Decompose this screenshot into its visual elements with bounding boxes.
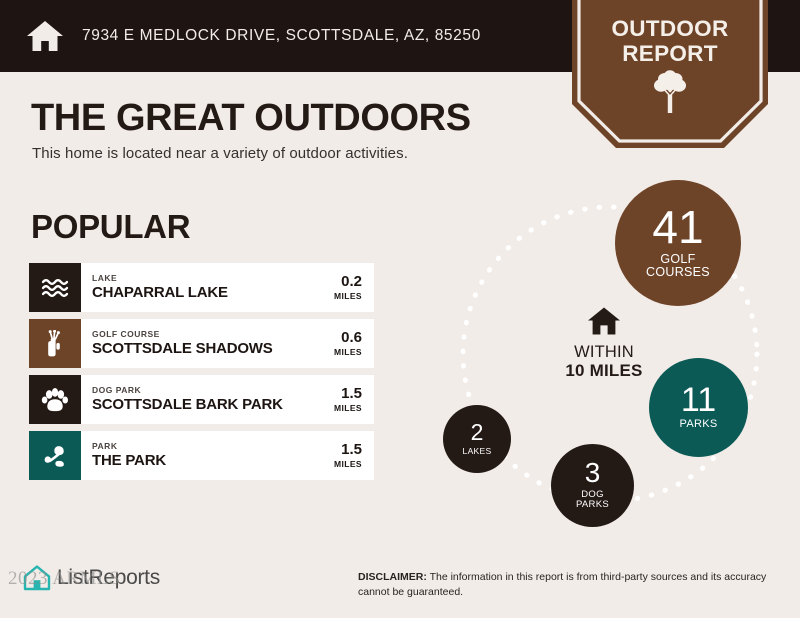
mls-watermark: 2023 ARMLS <box>8 568 120 590</box>
distance-value: 1.5 <box>341 442 362 458</box>
distance-unit: MILES <box>334 403 362 413</box>
park-tree-icon <box>41 442 69 470</box>
stat-label-line-1: GOLF <box>660 252 695 266</box>
distance-unit: MILES <box>334 459 362 469</box>
stat-value: 3 <box>585 460 601 487</box>
paw-print-icon <box>41 386 69 414</box>
list-item[interactable]: PARK THE PARK 1.5 MILES <box>29 431 374 480</box>
property-address: 7934 E MEDLOCK DRIVE, SCOTTSDALE, AZ, 85… <box>82 27 481 45</box>
page-title: THE GREAT OUTDOORS <box>31 97 471 140</box>
stat-label: PARKS <box>680 419 718 431</box>
stat-label-line-2: PARKS <box>576 499 609 510</box>
item-icon-tile <box>29 431 81 480</box>
item-icon-tile <box>29 375 81 424</box>
item-name: SCOTTSDALE BARK PARK <box>92 396 312 413</box>
item-text: PARK THE PARK <box>81 431 312 480</box>
badge-shield-shape <box>572 0 768 148</box>
item-category: PARK <box>92 442 312 451</box>
item-icon-tile <box>29 319 81 368</box>
stat-value: 11 <box>681 384 716 416</box>
distance-value: 0.2 <box>341 274 362 290</box>
outdoor-report-page: 7934 E MEDLOCK DRIVE, SCOTTSDALE, AZ, 85… <box>0 0 800 618</box>
item-name: SCOTTSDALE SHADOWS <box>92 340 312 357</box>
center-label-line-2: 10 MILES <box>524 361 684 381</box>
center-label-line-1: WITHIN <box>524 343 684 361</box>
stat-circle-dog-parks[interactable]: 3 DOG PARKS <box>551 444 634 527</box>
list-item[interactable]: GOLF COURSE SCOTTSDALE SHADOWS 0.6 MILES <box>29 319 374 368</box>
item-name: CHAPARRAL LAKE <box>92 284 312 301</box>
item-distance: 1.5 MILES <box>312 431 374 480</box>
popular-heading: POPULAR <box>31 208 190 246</box>
distance-value: 1.5 <box>341 386 362 402</box>
item-distance: 0.6 MILES <box>312 319 374 368</box>
item-distance: 1.5 MILES <box>312 375 374 424</box>
page-subtitle: This home is located near a variety of o… <box>32 145 408 162</box>
stat-value: 2 <box>471 422 484 444</box>
stat-circle-lakes[interactable]: 2 LAKES <box>443 405 511 473</box>
outdoor-report-badge: OUTDOOR REPORT <box>572 0 768 148</box>
list-item[interactable]: LAKE CHAPARRAL LAKE 0.2 MILES <box>29 263 374 312</box>
disclaimer-label: DISCLAIMER: <box>358 571 427 583</box>
stat-label: GOLF COURSES <box>646 253 710 280</box>
item-name: THE PARK <box>92 452 312 469</box>
distance-unit: MILES <box>334 347 362 357</box>
stat-value: 41 <box>652 206 703 250</box>
item-category: DOG PARK <box>92 386 312 395</box>
item-category: LAKE <box>92 274 312 283</box>
amenities-bubble-diagram: 41 GOLF COURSES 11 PARKS 3 DOG PARKS 2 L… <box>420 168 800 543</box>
distance-value: 0.6 <box>341 330 362 346</box>
distance-unit: MILES <box>334 291 362 301</box>
item-category: GOLF COURSE <box>92 330 312 339</box>
item-text: GOLF COURSE SCOTTSDALE SHADOWS <box>81 319 312 368</box>
stat-circle-golf-courses[interactable]: 41 GOLF COURSES <box>615 180 741 306</box>
popular-list: LAKE CHAPARRAL LAKE 0.2 MILES <box>29 263 374 487</box>
disclaimer: DISCLAIMER: The information in this repo… <box>358 570 778 600</box>
home-icon <box>26 19 64 53</box>
list-item[interactable]: DOG PARK SCOTTSDALE BARK PARK 1.5 MILES <box>29 375 374 424</box>
stat-label: DOG PARKS <box>576 490 609 511</box>
waves-icon <box>41 276 69 300</box>
item-distance: 0.2 MILES <box>312 263 374 312</box>
stat-label-line-2: COURSES <box>646 265 710 279</box>
diagram-center-label: WITHIN 10 MILES <box>524 306 684 381</box>
item-text: LAKE CHAPARRAL LAKE <box>81 263 312 312</box>
item-icon-tile <box>29 263 81 312</box>
golf-bag-icon <box>42 330 68 358</box>
stat-label: LAKES <box>463 447 492 456</box>
item-text: DOG PARK SCOTTSDALE BARK PARK <box>81 375 312 424</box>
home-icon <box>587 306 621 336</box>
